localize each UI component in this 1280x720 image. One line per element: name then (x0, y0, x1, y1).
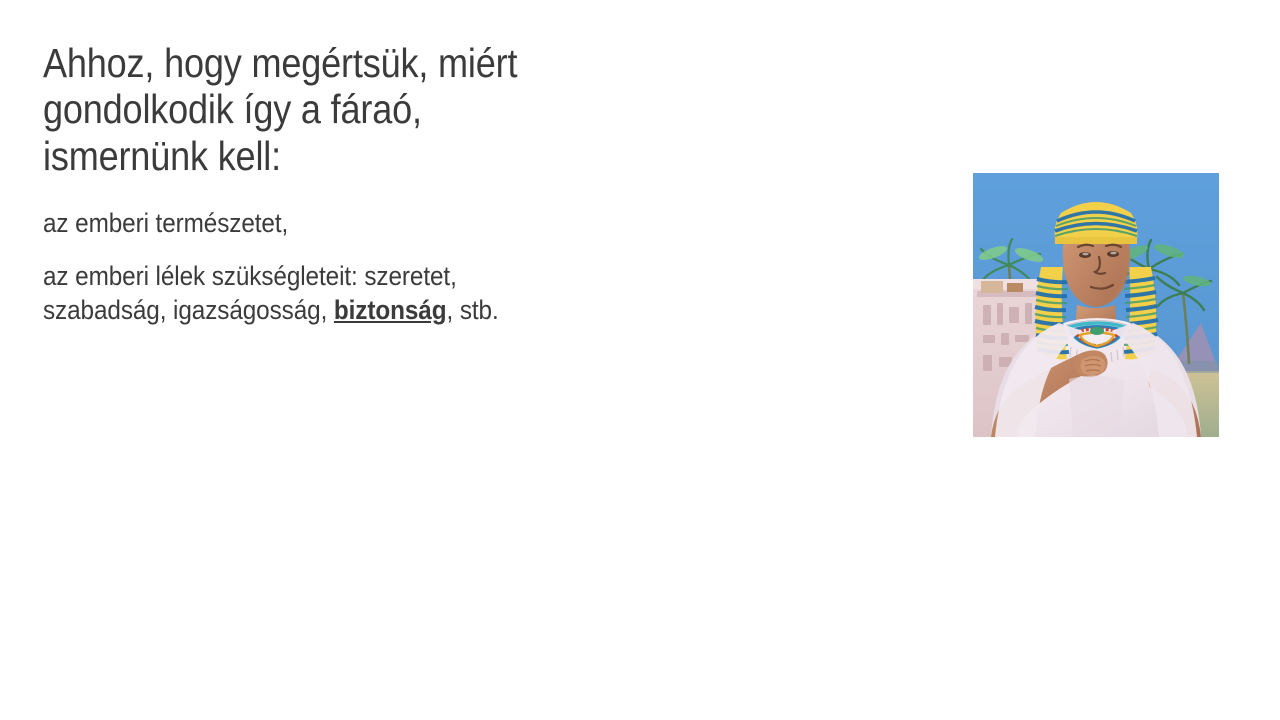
list-item-text: az emberi természetet, (43, 208, 288, 238)
emphasized-term: biztonság (334, 295, 447, 325)
body-bullet-list: az emberi természetet, az emberi lélek s… (43, 206, 565, 328)
page-title: Ahhoz, hogy megértsük, miért gondolkodik… (43, 40, 553, 179)
list-item-text-tail: , stb. (446, 295, 498, 325)
list-item: az emberi lélek szükségleteit: szeretet,… (43, 259, 565, 328)
pharaoh-image: Egyiptomi fáraó festmény: kék ég, pálmaf… (973, 173, 1219, 437)
slide-canvas: Ahhoz, hogy megértsük, miért gondolkodik… (0, 0, 1280, 720)
pharaoh-illustration-graphic (973, 173, 1219, 437)
slide-text-block: Ahhoz, hogy megértsük, miért gondolkodik… (43, 40, 623, 328)
list-item: az emberi természetet, (43, 206, 565, 241)
